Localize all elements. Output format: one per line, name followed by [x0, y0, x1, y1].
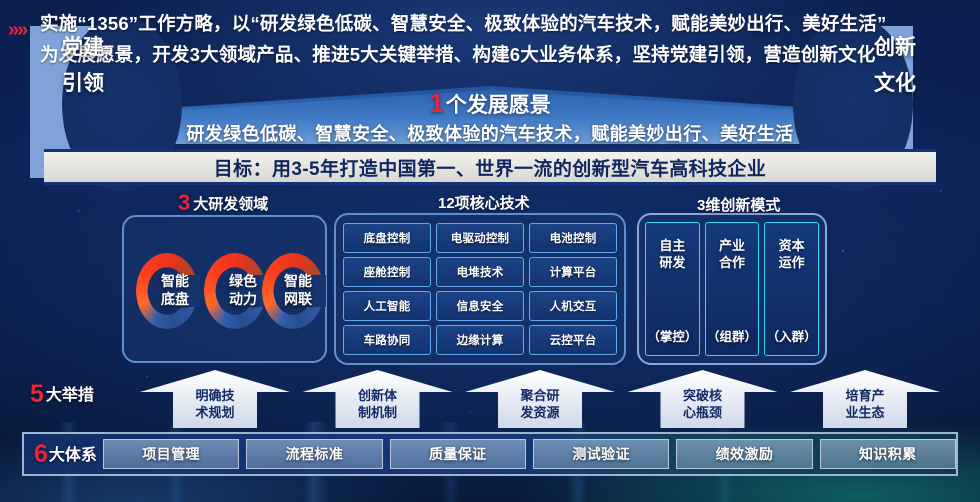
initiative-label: 明确技术规划: [140, 387, 290, 421]
systems-label: 大体系: [49, 447, 97, 464]
header: »» 实施“1356”工作方略，以“研发绿色低碳、智慧安全、极致体验的汽车技术，…: [0, 0, 980, 80]
innovation-mode-sub: （入群）: [767, 326, 817, 345]
vision-statement: 研发绿色低碳、智慧安全、极致体验的汽车技术，赋能美妙出行、美好生活: [0, 120, 980, 146]
core-tech-cell[interactable]: 边缘计算: [436, 325, 524, 355]
innovation-mode-column[interactable]: 产业合作 （组群）: [705, 222, 760, 356]
core-tech-cell[interactable]: 人工智能: [343, 291, 431, 321]
system-cell[interactable]: 测试验证: [533, 439, 669, 469]
system-cell[interactable]: 项目管理: [103, 439, 239, 469]
systems-number: 6: [34, 440, 48, 468]
section-caption-core-tech: 12项核心技术: [438, 192, 530, 213]
initiatives-caption: 5大举措: [30, 380, 94, 409]
core-tech-cell[interactable]: 计算平台: [529, 257, 617, 287]
initiatives-number: 5: [30, 380, 44, 408]
innovation-mode-title: 资本运作: [779, 237, 805, 271]
core-tech-cell[interactable]: 电池控制: [529, 223, 617, 253]
initiative-arrow[interactable]: 聚合研发资源: [465, 370, 615, 428]
section-caption-innovation-mode: 3维创新模式: [697, 194, 780, 215]
core-tech-cell[interactable]: 底盘控制: [343, 223, 431, 253]
systems-band: 6大体系 项目管理 流程标准 质量保证 测试验证 绩效激励 知识积累: [22, 432, 958, 476]
header-line-2: 为发展愿景，开发3大领域产品、推进5大关键举措、构建6大业务体系，坚持党建引领，…: [40, 39, 970, 70]
header-statement: 实施“1356”工作方略，以“研发绿色低碳、智慧安全、极致体验的汽车技术，赋能美…: [40, 8, 970, 70]
pillar-left-label: 党建引领: [60, 30, 106, 102]
systems-list: 项目管理 流程标准 质量保证 测试验证 绩效激励 知识积累: [103, 439, 956, 469]
rnd-field-label-3: 智能网联: [268, 272, 328, 308]
initiatives-row: 明确技术规划 创新体制机制 聚合研发资源 突破核心瓶颈 培育产业生态: [140, 370, 940, 428]
rnd-fields-label: 大研发领域: [193, 196, 268, 213]
core-tech-cell[interactable]: 云控平台: [529, 325, 617, 355]
initiative-label: 培育产业生态: [790, 387, 940, 421]
systems-caption: 6大体系: [34, 440, 97, 469]
core-tech-cell[interactable]: 车路协同: [343, 325, 431, 355]
innovation-mode-column[interactable]: 资本运作 （入群）: [764, 222, 819, 356]
core-tech-cell[interactable]: 人机交互: [529, 291, 617, 321]
core-tech-cell[interactable]: 电驱动控制: [436, 223, 524, 253]
system-cell[interactable]: 流程标准: [246, 439, 382, 469]
slide-canvas: »» 实施“1356”工作方略，以“研发绿色低碳、智慧安全、极致体验的汽车技术，…: [0, 0, 980, 502]
vision-count-number: 1: [429, 88, 443, 118]
innovation-mode-column[interactable]: 自主研发 （掌控）: [645, 222, 700, 356]
initiative-label: 聚合研发资源: [465, 387, 615, 421]
system-cell[interactable]: 质量保证: [390, 439, 526, 469]
header-line-1: 实施“1356”工作方略，以“研发绿色低碳、智慧安全、极致体验的汽车技术，赋能美…: [40, 8, 970, 39]
core-tech-cell[interactable]: 电堆技术: [436, 257, 524, 287]
innovation-mode-title: 自主研发: [659, 237, 685, 271]
initiatives-label: 大举措: [46, 387, 94, 404]
vision-count: 1个发展愿景: [0, 88, 980, 119]
pillar-right-label: 创新文化: [872, 30, 918, 102]
core-tech-cell[interactable]: 座舱控制: [343, 257, 431, 287]
rnd-field-label-1: 智能底盘: [145, 272, 205, 308]
core-technologies-grid: 底盘控制 电驱动控制 电池控制 座舱控制 电堆技术 计算平台 人工智能 信息安全…: [343, 223, 617, 355]
double-chevron-right-icon: »»: [8, 20, 26, 40]
initiative-label: 突破核心瓶颈: [628, 387, 778, 421]
goal-banner: 目标：用3-5年打造中国第一、世界一流的创新型汽车高科技企业: [44, 149, 936, 185]
system-cell[interactable]: 绩效激励: [676, 439, 812, 469]
initiative-arrow[interactable]: 培育产业生态: [790, 370, 940, 428]
initiative-label: 创新体制机制: [303, 387, 453, 421]
initiative-arrow[interactable]: 突破核心瓶颈: [628, 370, 778, 428]
system-cell[interactable]: 知识积累: [820, 439, 956, 469]
initiative-arrow[interactable]: 创新体制机制: [303, 370, 453, 428]
innovation-mode-sub: （组群）: [707, 326, 757, 345]
vision-count-label: 个发展愿景: [446, 94, 551, 117]
innovation-mode-title: 产业合作: [719, 237, 745, 271]
rnd-fields-number: 3: [178, 190, 190, 215]
innovation-modes: 自主研发 （掌控） 产业合作 （组群） 资本运作 （入群）: [645, 222, 819, 356]
core-tech-cell[interactable]: 信息安全: [436, 291, 524, 321]
initiative-arrow[interactable]: 明确技术规划: [140, 370, 290, 428]
rnd-field-label-2: 绿色动力: [213, 272, 273, 308]
innovation-mode-sub: （掌控）: [647, 326, 697, 345]
section-caption-rnd-fields: 3大研发领域: [178, 190, 268, 216]
